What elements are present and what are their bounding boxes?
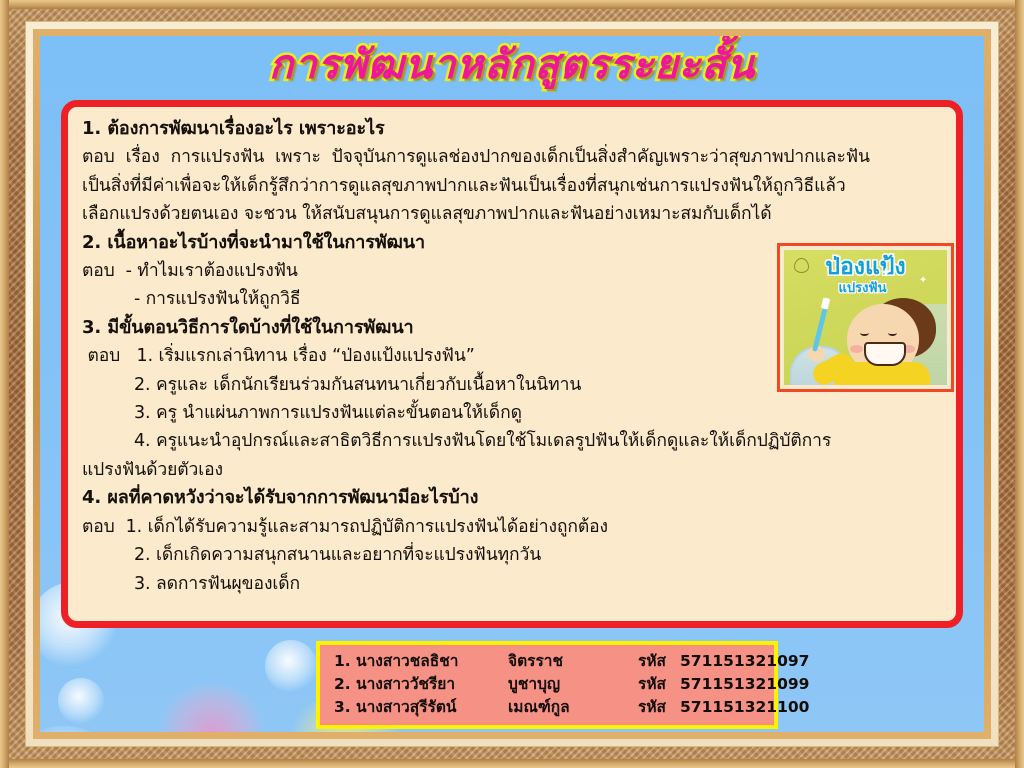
answer-line: 2. เด็กเกิดความสนุกสนานและอยากที่จะแปรงฟ… bbox=[82, 541, 942, 569]
toothbrush-handle-icon bbox=[812, 302, 829, 352]
answer-line: แปรงฟันด้วยตัวเอง bbox=[82, 456, 942, 484]
answer-line: ตอบ เรื่อง การแปรงฟัน เพราะ ปัจจุบันการด… bbox=[82, 143, 942, 171]
decorative-bubble bbox=[58, 678, 104, 724]
boy-eye-right bbox=[888, 330, 897, 336]
author-label: รหัส bbox=[638, 673, 680, 696]
author-first: นางสาวสุรีรัตน์ bbox=[356, 696, 508, 719]
decorative-bubble bbox=[40, 726, 112, 732]
toothbrush-head-icon bbox=[821, 297, 830, 309]
author-label: รหัส bbox=[638, 650, 680, 673]
sparkle-icon: ✦ bbox=[919, 276, 927, 286]
answer-line: 4. ครูแนะนำอุปกรณ์และสาธิตวิธีการแปรงฟัน… bbox=[82, 427, 942, 455]
slide-title-container: การพัฒนาหลักสูตรระยะสั้น bbox=[40, 40, 984, 90]
author-last: บูชาบุญ bbox=[508, 673, 638, 696]
boy-smiling-mouth bbox=[864, 342, 906, 366]
answer-line: ตอบ 1. เด็กได้รับความรู้และสามารถปฏิบัติ… bbox=[82, 513, 942, 541]
author-row: 2.นางสาววัชรียาบูชาบุญรหัส571151321099 bbox=[334, 673, 764, 696]
author-code: 571151321097 bbox=[680, 650, 809, 673]
sparkle-icon: ✦ bbox=[880, 266, 892, 280]
answer-line: 3. ครู นำแผ่นภาพการแปรงฟันแต่ละขั้นตอนให… bbox=[82, 399, 942, 427]
boy-eye-left bbox=[860, 330, 869, 336]
question-line: 1. ต้องการพัฒนาเรื่องอะไร เพราะอะไร bbox=[82, 115, 942, 143]
storybook-subtitle: แปรงฟัน bbox=[784, 282, 941, 295]
author-index: 2. bbox=[334, 673, 356, 696]
author-index: 3. bbox=[334, 696, 356, 719]
author-row: 3.นางสาวสุรีรัตน์เมณฑ์กูลรหัส57115132110… bbox=[334, 696, 764, 719]
author-first: นางสาวชลธิชา bbox=[356, 650, 508, 673]
presentation-slide: การพัฒนาหลักสูตรระยะสั้น 1. ต้องการพัฒนา… bbox=[0, 0, 1024, 768]
decorative-bubble bbox=[265, 640, 317, 692]
author-first: นางสาววัชรียา bbox=[356, 673, 508, 696]
authors-box: 1.นางสาวชลธิชาจิตรราชรหัส5711513210972.น… bbox=[316, 641, 778, 729]
author-last: จิตรราช bbox=[508, 650, 638, 673]
author-label: รหัส bbox=[638, 696, 680, 719]
answer-line: เป็นสิ่งที่มีค่าเพื่อจะให้เด็กรู้สึกว่าก… bbox=[82, 172, 942, 200]
author-code: 571151321099 bbox=[680, 673, 809, 696]
author-row: 1.นางสาวชลธิชาจิตรราชรหัส571151321097 bbox=[334, 650, 764, 673]
question-line: 4. ผลที่คาดหวังว่าจะได้รับจากการพัฒนามีอ… bbox=[82, 484, 942, 512]
author-last: เมณฑ์กูล bbox=[508, 696, 638, 719]
answer-line: 3. ลดการฟันผุของเด็ก bbox=[82, 570, 942, 598]
storybook-cover-image: ✦ ✦ ป่องแป้ง แปรงฟัน bbox=[777, 243, 954, 392]
frame-bevel-right bbox=[1015, 0, 1024, 768]
slide-title: การพัฒนาหลักสูตรระยะสั้น bbox=[259, 40, 765, 90]
decorative-bubble bbox=[158, 684, 266, 732]
author-code: 571151321100 bbox=[680, 696, 809, 719]
boy-cheek-left bbox=[850, 345, 863, 353]
authors-list: 1.นางสาวชลธิชาจิตรราชรหัส5711513210972.น… bbox=[334, 650, 764, 719]
author-index: 1. bbox=[334, 650, 356, 673]
storybook-cover-art: ✦ ✦ ป่องแป้ง แปรงฟัน bbox=[784, 250, 947, 385]
frame-bevel-bottom bbox=[0, 759, 1024, 768]
slide-canvas: การพัฒนาหลักสูตรระยะสั้น 1. ต้องการพัฒนา… bbox=[40, 36, 984, 732]
answer-line: เลือกแปรงด้วยตนเอง จะชวน ให้สนับสนุนการด… bbox=[82, 200, 942, 228]
frame-bevel-top bbox=[0, 0, 1024, 9]
frame-bevel-left bbox=[0, 0, 9, 768]
